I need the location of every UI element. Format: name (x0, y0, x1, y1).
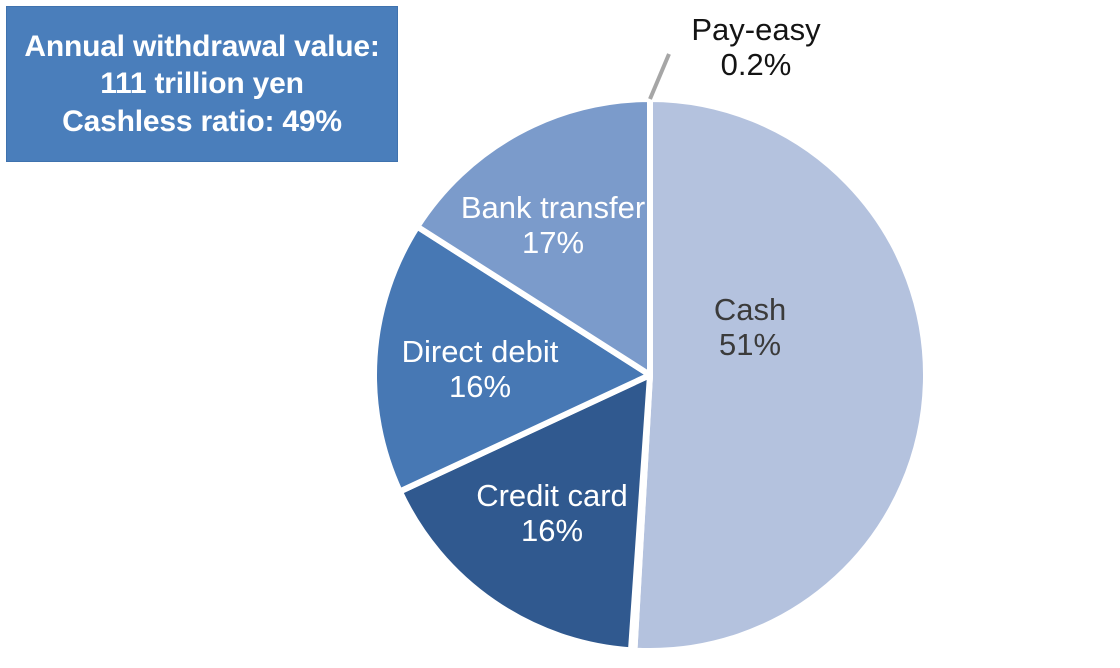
pie-slices (374, 99, 926, 651)
pie-chart-svg (0, 0, 1120, 668)
pay-easy-leader-line (650, 54, 669, 99)
pie-slice-cash[interactable] (634, 99, 926, 651)
pie-chart (0, 0, 1120, 668)
chart-canvas: Annual withdrawal value: 111 trillion ye… (0, 0, 1120, 668)
